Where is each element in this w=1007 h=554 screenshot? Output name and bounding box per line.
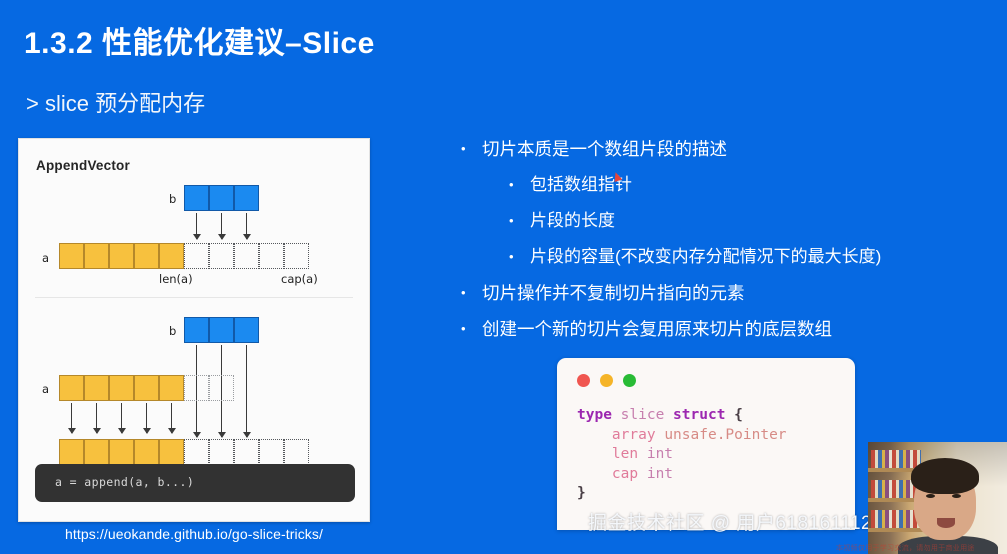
bottom-a-cell bbox=[134, 375, 159, 401]
bottom-a-spare-cell bbox=[209, 375, 234, 401]
page-subtitle: > slice 预分配内存 bbox=[26, 86, 205, 118]
result-cell bbox=[109, 439, 134, 465]
webcam-person-eye bbox=[952, 494, 961, 498]
bullet-item: 片段的容量(不改变内存分配情况下的最大长度) bbox=[452, 239, 997, 275]
bullet-item: 创建一个新的切片会复用原来切片的底层数组 bbox=[452, 311, 997, 347]
code-token: int bbox=[647, 446, 673, 462]
top-arrow bbox=[246, 213, 247, 239]
top-array-b-label: b bbox=[169, 192, 176, 206]
code-line: array unsafe.Pointer bbox=[577, 426, 787, 446]
top-b-cell bbox=[184, 185, 209, 211]
figure-heading: AppendVector bbox=[36, 158, 130, 173]
append-code-text: a = append(a, b...) bbox=[55, 475, 194, 489]
bottom-arrow-a bbox=[146, 403, 147, 433]
code-token: array bbox=[577, 427, 664, 443]
top-a-cell bbox=[159, 243, 184, 269]
top-a-cell bbox=[134, 243, 159, 269]
code-token: { bbox=[725, 407, 742, 423]
bottom-arrow-a bbox=[171, 403, 172, 433]
top-b-cell bbox=[209, 185, 234, 211]
code-token bbox=[664, 407, 673, 423]
bottom-a-spare-cell bbox=[184, 375, 209, 401]
bottom-a-cell bbox=[109, 375, 134, 401]
code-token: cap bbox=[577, 466, 647, 482]
top-cap-cell bbox=[209, 243, 234, 269]
top-cap-cell bbox=[259, 243, 284, 269]
bottom-arrow-a bbox=[71, 403, 72, 433]
panel-divider bbox=[35, 297, 353, 298]
result-spare-cell bbox=[234, 439, 259, 465]
code-line: cap int bbox=[577, 465, 787, 485]
bullet-list: 切片本质是一个数组片段的描述 包括数组指针 片段的长度 片段的容量(不改变内存分… bbox=[452, 131, 997, 347]
window-maximize-dot-icon[interactable] bbox=[623, 374, 636, 387]
bottom-arrow-b bbox=[246, 345, 247, 437]
code-token: unsafe.Pointer bbox=[664, 427, 786, 443]
bottom-b-cell bbox=[209, 317, 234, 343]
code-token bbox=[612, 407, 621, 423]
bullet-item: 包括数组指针 bbox=[452, 167, 997, 203]
bottom-arrow-a bbox=[96, 403, 97, 433]
webcam-person-eye bbox=[926, 494, 935, 498]
bottom-a-cell bbox=[84, 375, 109, 401]
code-token: int bbox=[647, 466, 673, 482]
webcam-person-mouth bbox=[937, 518, 955, 528]
top-a-cell bbox=[59, 243, 84, 269]
top-arrow bbox=[196, 213, 197, 239]
top-a-cell bbox=[84, 243, 109, 269]
top-a-cell bbox=[109, 243, 134, 269]
bottom-arrow-a bbox=[121, 403, 122, 433]
result-spare-cell bbox=[259, 439, 284, 465]
bottom-array-a-label: a bbox=[42, 382, 49, 396]
result-spare-cell bbox=[184, 439, 209, 465]
code-token: struct bbox=[673, 407, 725, 423]
figure-source-url: https://ueokande.github.io/go-slice-tric… bbox=[18, 526, 370, 542]
bottom-a-cell bbox=[159, 375, 184, 401]
bookshelf-shelf bbox=[868, 528, 924, 532]
top-cap-cell bbox=[284, 243, 309, 269]
webcam-video-inset[interactable] bbox=[868, 442, 1007, 554]
top-cap-cell bbox=[184, 243, 209, 269]
result-cell bbox=[84, 439, 109, 465]
top-b-cell bbox=[234, 185, 259, 211]
code-snippet-body: type slice struct { array unsafe.Pointer… bbox=[577, 406, 787, 504]
figure-card: AppendVector b a len(a) cap(a) b bbox=[18, 138, 370, 522]
top-array-a-label: a bbox=[42, 251, 49, 265]
append-code-chip: a = append(a, b...) bbox=[35, 464, 355, 502]
bottom-b-cell bbox=[234, 317, 259, 343]
code-token: } bbox=[577, 485, 586, 501]
top-len-label: len(a) bbox=[159, 272, 193, 286]
bullet-item: 片段的长度 bbox=[452, 203, 997, 239]
result-spare-cell bbox=[284, 439, 309, 465]
bottom-disclaimer-text: 本视频仅用于学习交流，请勿用于商业用途 bbox=[836, 543, 975, 553]
bullet-item: 切片操作并不复制切片指向的元素 bbox=[452, 275, 997, 311]
code-line: type slice struct { bbox=[577, 406, 787, 426]
top-arrow bbox=[221, 213, 222, 239]
bottom-b-cell bbox=[184, 317, 209, 343]
code-snippet-card: type slice struct { array unsafe.Pointer… bbox=[557, 358, 855, 530]
code-line: } bbox=[577, 484, 787, 504]
code-token: type bbox=[577, 407, 612, 423]
bottom-array-b-label: b bbox=[169, 324, 176, 338]
watermark-text: 掘金技术社区 @ 用户618161112415 bbox=[588, 508, 905, 535]
webcam-person-hair bbox=[911, 458, 979, 494]
top-cap-cell bbox=[234, 243, 259, 269]
code-token: len bbox=[577, 446, 647, 462]
page-title: 1.3.2 性能优化建议–Slice bbox=[24, 18, 375, 62]
top-cap-label: cap(a) bbox=[281, 272, 318, 286]
bottom-a-cell bbox=[59, 375, 84, 401]
code-line: len int bbox=[577, 445, 787, 465]
bookshelf-books bbox=[871, 450, 921, 468]
bullet-item: 切片本质是一个数组片段的描述 bbox=[452, 131, 997, 167]
code-token: slice bbox=[621, 407, 665, 423]
result-spare-cell bbox=[209, 439, 234, 465]
window-minimize-dot-icon[interactable] bbox=[600, 374, 613, 387]
result-cell bbox=[59, 439, 84, 465]
result-cell bbox=[159, 439, 184, 465]
result-cell bbox=[134, 439, 159, 465]
window-close-dot-icon[interactable] bbox=[577, 374, 590, 387]
